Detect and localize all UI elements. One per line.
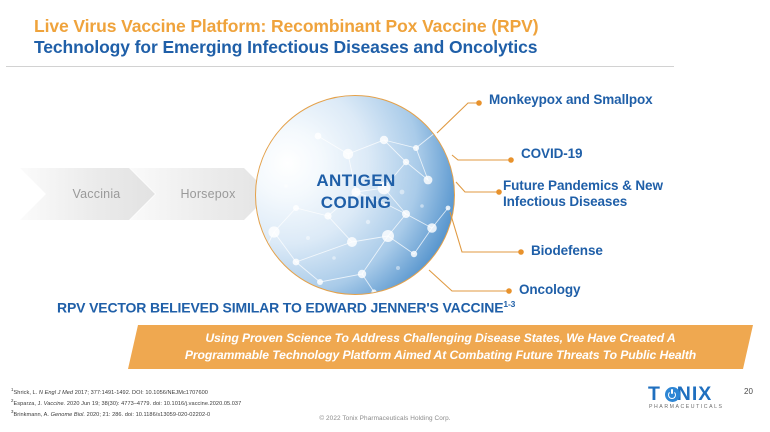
connector-dot-covid (508, 157, 514, 163)
copyright-notice: © 2022 Tonix Pharmaceuticals Holding Cor… (0, 415, 770, 422)
tonix-wordmark-pre: T (648, 383, 661, 405)
branch-label-oncology: Oncology (519, 282, 580, 298)
rpv-headline-superscript: 1-3 (503, 299, 515, 309)
rpv-headline: RPV VECTOR BELIEVED SIMILAR TO EDWARD JE… (57, 299, 515, 316)
branch-label-future-pandemics: Future Pandemics & New Infectious Diseas… (503, 178, 663, 210)
branch-label-covid: COVID-19 (521, 146, 582, 162)
antigen-coding-hub: ANTIGENCODING (255, 95, 455, 295)
branch-label-monkeypox: Monkeypox and Smallpox (489, 92, 653, 108)
connector-dot-oncology (506, 288, 512, 294)
connector-biodefense (450, 212, 521, 252)
page-number: 20 (744, 387, 753, 396)
footnote-2: 2Esparza, J. Vaccine. 2020 Jun 19; 38(30… (11, 397, 241, 408)
summary-banner-text: Using Proven Science To Address Challeng… (185, 330, 696, 364)
summary-banner: Using Proven Science To Address Challeng… (128, 325, 753, 369)
footnote-2-author: Esparza, J. (14, 401, 44, 407)
title-line-1: Live Virus Vaccine Platform: Recombinant… (34, 16, 734, 37)
footnote-1-journal: N Engl J Med (39, 390, 73, 396)
molecular-network-icon (256, 96, 455, 295)
tonix-tagline: PHARMACEUTICALS (649, 404, 724, 410)
flow-step-vaccinia-label: Vaccinia (55, 187, 121, 201)
connector-dot-biodefense (518, 249, 524, 255)
page-title: Live Virus Vaccine Platform: Recombinant… (34, 16, 734, 58)
tonix-power-icon (665, 387, 680, 402)
connector-covid (452, 155, 511, 160)
footnote-2-rest: 2020 Jun 19; 38(30): 4773–4779. doi: 10.… (65, 401, 241, 407)
title-divider (6, 66, 674, 67)
rpv-headline-text: RPV VECTOR BELIEVED SIMILAR TO EDWARD JE… (57, 300, 503, 316)
title-line-2: Technology for Emerging Infectious Disea… (34, 37, 734, 58)
footnote-1-author: Shrick, L. (14, 390, 39, 396)
connector-dot-monkeypox (476, 100, 482, 106)
tonix-wordmark: TONIX (648, 384, 712, 404)
footnote-2-journal: Vaccine. (44, 401, 66, 407)
tonix-logo: TONIX PHARMACEUTICALS (648, 384, 734, 412)
connector-dot-future (496, 189, 502, 195)
branch-label-biodefense: Biodefense (531, 243, 603, 259)
flow-step-horsepox-label: Horsepox (164, 187, 235, 201)
tonix-wordmark-post: NIX (677, 383, 713, 405)
footnote-1: 1Shrick, L. N Engl J Med 2017; 377:1491-… (11, 386, 241, 397)
slide-canvas: Live Virus Vaccine Platform: Recombinant… (0, 0, 770, 432)
footnote-1-rest: 2017; 377:1491-1492. DOI: 10.1056/NEJMc1… (73, 390, 208, 396)
connector-future (456, 182, 499, 192)
flow-step-vaccinia: Vaccinia (20, 168, 155, 220)
